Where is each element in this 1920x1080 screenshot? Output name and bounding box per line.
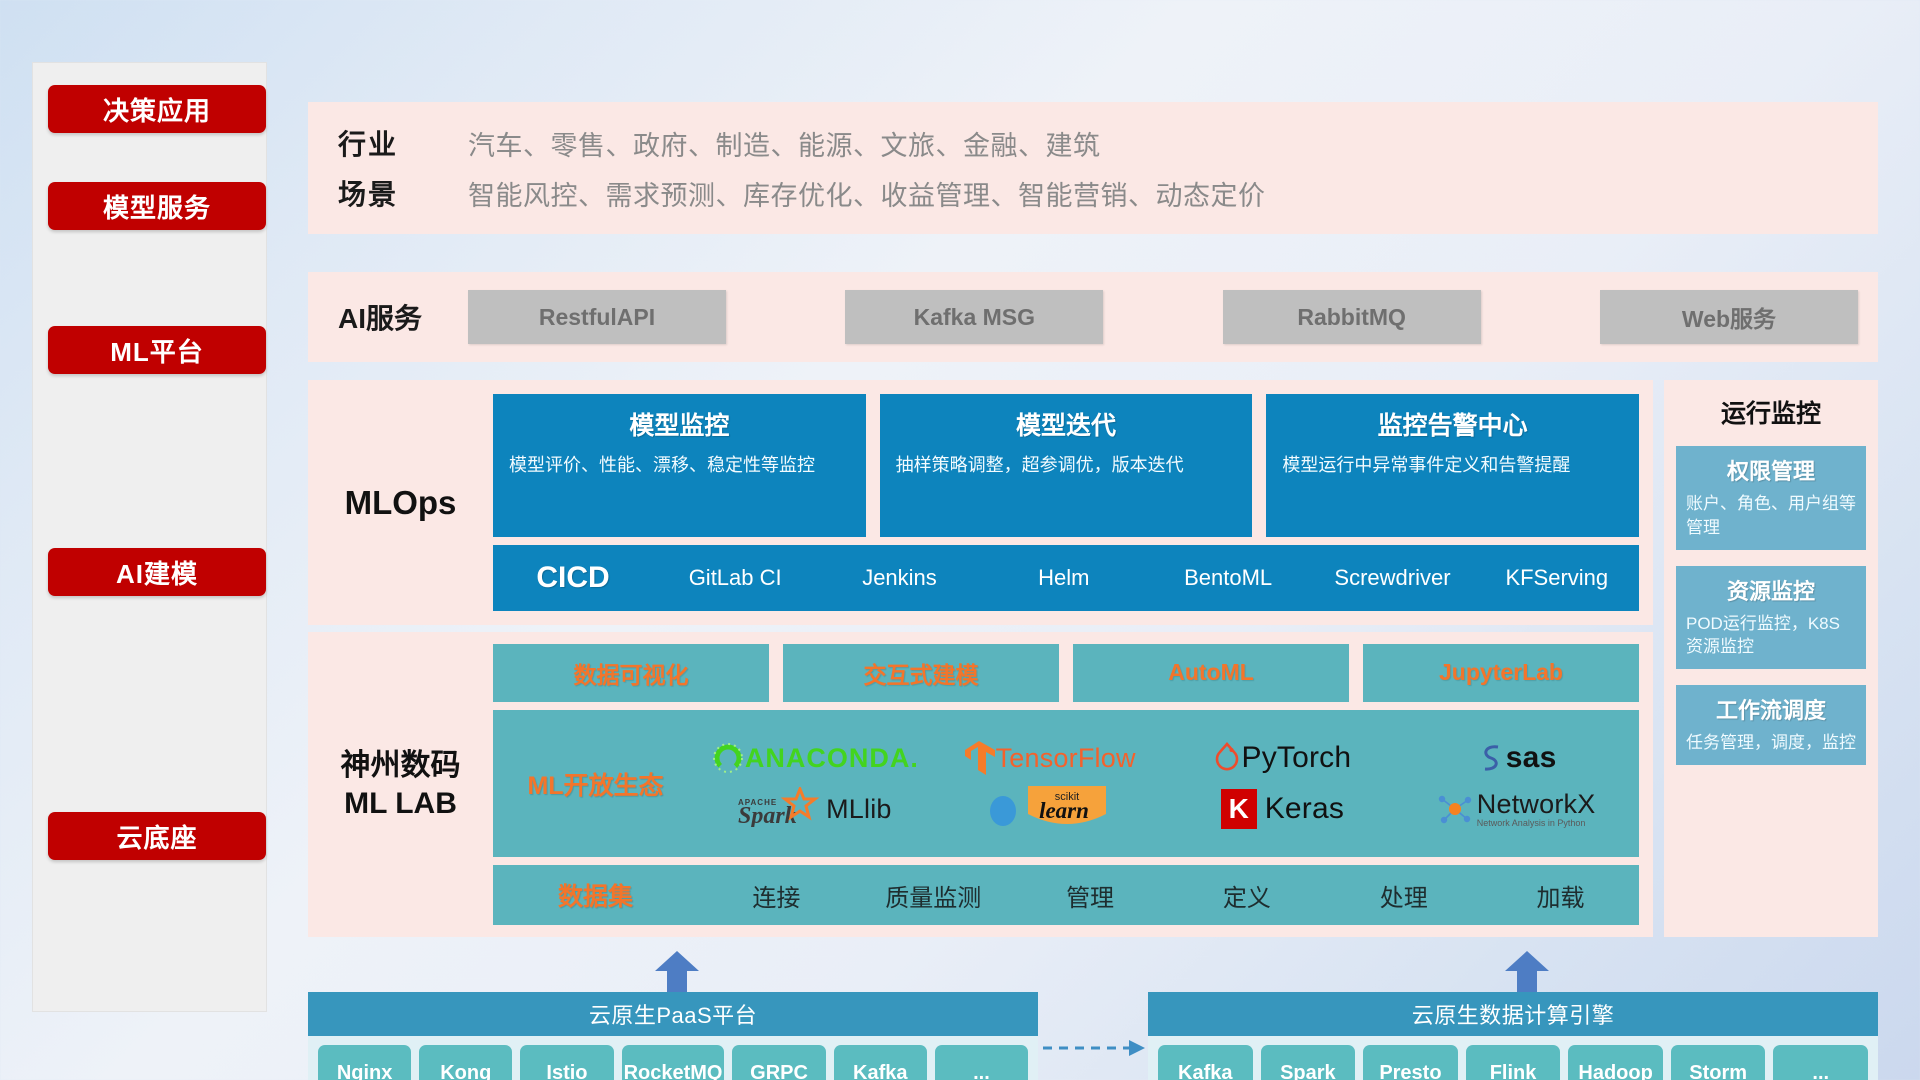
cloud-native-paas-group: 云原生PaaS平台 Nginx Kong Istio RocketMQ GRPC…: [308, 992, 1038, 1080]
networkx-logo: NetworkX Network Analysis in Python: [1437, 791, 1596, 828]
dataset-item-define[interactable]: 定义: [1168, 878, 1325, 913]
paas-chip-nginx[interactable]: Nginx: [318, 1045, 411, 1080]
anaconda-icon: [711, 741, 745, 775]
card-title: 工作流调度: [1686, 693, 1856, 725]
pytorch-icon: [1213, 741, 1241, 775]
industry-values: 汽车、零售、政府、制造、能源、文旅、金融、建筑: [468, 124, 1101, 163]
mlops-card-alert-center[interactable]: 监控告警中心 模型运行中异常事件定义和告警提醒: [1266, 394, 1639, 537]
cicd-label: CICD: [493, 561, 653, 595]
ai-service-chip-web-service[interactable]: Web服务: [1600, 290, 1858, 344]
paas-chip-list: Nginx Kong Istio RocketMQ GRPC Kafka ...: [308, 1036, 1038, 1080]
compute-chip-kafka[interactable]: Kafka: [1158, 1045, 1253, 1080]
cicd-item-helm[interactable]: Helm: [982, 566, 1146, 591]
paas-chip-istio[interactable]: Istio: [520, 1045, 613, 1080]
mlops-band: MLOps 模型监控 模型评价、性能、漂移、稳定性等监控 模型迭代 抽样策略调整…: [308, 380, 1653, 625]
ai-service-label: AI服务: [308, 297, 468, 337]
svg-text:Spark: Spark: [738, 803, 797, 827]
lab-tool-jupyterlab[interactable]: JupyterLab: [1363, 644, 1639, 702]
networkx-wordmark: NetworkX: [1477, 791, 1596, 818]
mllib-wordmark: MLlib: [826, 794, 892, 825]
sas-logo: sas: [1476, 741, 1557, 775]
card-desc: 账户、角色、用户组等管理: [1686, 492, 1856, 540]
sidebar-item-ai-modeling[interactable]: AI建模: [48, 548, 266, 596]
arrow-up-icon: [1503, 949, 1551, 997]
pytorch-wordmark: PyTorch: [1241, 741, 1351, 775]
card-desc: POD运行监控，K8S资源监控: [1686, 612, 1856, 660]
paas-chip-kong[interactable]: Kong: [419, 1045, 512, 1080]
ai-service-chip-kafka-msg[interactable]: Kafka MSG: [845, 290, 1103, 344]
ml-lab-band: 神州数码 ML LAB 数据可视化 交互式建模 AutoML JupyterLa…: [308, 632, 1653, 937]
dataset-item-manage[interactable]: 管理: [1012, 878, 1169, 913]
ai-service-band: AI服务 RestfulAPI Kafka MSG RabbitMQ Web服务: [308, 272, 1878, 362]
sidebar-item-label: 云底座: [116, 818, 197, 855]
sidebar-item-ml-platform[interactable]: ML平台: [48, 326, 266, 374]
sidebar-item-model-service[interactable]: 模型服务: [48, 182, 266, 230]
networkx-tagline: Network Analysis in Python: [1477, 818, 1596, 828]
scenario-row: 场景 智能风控、需求预测、库存优化、收益管理、智能营销、动态定价: [338, 168, 1878, 218]
chip-label: RestfulAPI: [539, 304, 655, 331]
tensorflow-wordmark: TensorFlow: [996, 743, 1136, 774]
chip-label: Kafka MSG: [914, 304, 1035, 331]
dataset-bar: 数据集 连接 质量监测 管理 定义 处理 加载: [493, 865, 1639, 925]
card-desc: 模型运行中异常事件定义和告警提醒: [1282, 452, 1623, 478]
chip-label: RabbitMQ: [1297, 304, 1406, 331]
paas-chip-rocketmq[interactable]: RocketMQ: [622, 1045, 725, 1080]
cicd-item-gitlab-ci[interactable]: GitLab CI: [653, 566, 817, 591]
dataset-item-connect[interactable]: 连接: [698, 878, 855, 913]
mlops-card-model-iteration[interactable]: 模型迭代 抽样策略调整，超参调优，版本迭代: [880, 394, 1253, 537]
spark-mllib-logo: APACHE Spark MLlib: [738, 787, 892, 832]
svg-text:learn: learn: [1039, 798, 1089, 823]
arrow-up-icon: [653, 949, 701, 997]
cicd-item-screwdriver[interactable]: Screwdriver: [1310, 566, 1474, 591]
anaconda-wordmark: ANACONDA.: [745, 743, 919, 774]
ml-open-ecosystem-label: ML开放生态: [493, 766, 698, 802]
sidebar-item-label: AI建模: [116, 554, 198, 591]
scenario-values: 智能风控、需求预测、库存优化、收益管理、智能营销、动态定价: [468, 174, 1266, 213]
dataset-label: 数据集: [493, 877, 698, 913]
compute-chip-flink[interactable]: Flink: [1466, 1045, 1561, 1080]
tensorflow-logo: TensorFlow: [962, 739, 1136, 777]
networkx-wordmark-group: NetworkX Network Analysis in Python: [1477, 791, 1596, 828]
monitor-card-permission[interactable]: 权限管理 账户、角色、用户组等管理: [1676, 446, 1866, 550]
cloud-native-paas-title: 云原生PaaS平台: [308, 992, 1038, 1036]
mlops-card-model-monitoring[interactable]: 模型监控 模型评价、性能、漂移、稳定性等监控: [493, 394, 866, 537]
sidebar-item-label: 决策应用: [103, 91, 211, 128]
compute-chip-more[interactable]: ...: [1773, 1045, 1868, 1080]
paas-chip-grpc[interactable]: GRPC: [732, 1045, 825, 1080]
ml-lab-label-line1: 神州数码: [341, 747, 461, 785]
keras-icon: K: [1221, 789, 1257, 829]
card-desc: 模型评价、性能、漂移、稳定性等监控: [509, 452, 850, 478]
sas-wordmark: sas: [1506, 741, 1557, 775]
runtime-monitor-title: 运行监控: [1676, 394, 1866, 430]
scikit-learn-badge: scikit learn: [1024, 784, 1110, 835]
networkx-icon: [1437, 791, 1473, 827]
arrow-right-dashed-icon: [1041, 1037, 1147, 1059]
sidebar-item-decision-app[interactable]: 决策应用: [48, 85, 266, 133]
ai-service-chip-restfulapi[interactable]: RestfulAPI: [468, 290, 726, 344]
sidebar-item-cloud-base[interactable]: 云底座: [48, 812, 266, 860]
sidebar-item-label: 模型服务: [103, 188, 211, 225]
runtime-monitor-panel: 运行监控 权限管理 账户、角色、用户组等管理 资源监控 POD运行监控，K8S资…: [1664, 380, 1878, 937]
ai-service-chip-list: RestfulAPI Kafka MSG RabbitMQ Web服务: [468, 290, 1878, 344]
tensorflow-icon: [962, 739, 996, 777]
chip-label: Web服务: [1682, 300, 1776, 334]
paas-chip-more[interactable]: ...: [935, 1045, 1028, 1080]
compute-chip-presto[interactable]: Presto: [1363, 1045, 1458, 1080]
ml-lab-label: 神州数码 ML LAB: [308, 632, 493, 937]
card-title: 资源监控: [1686, 574, 1856, 606]
compute-chip-spark[interactable]: Spark: [1261, 1045, 1356, 1080]
scikit-learn-logo: scikit learn: [988, 784, 1110, 835]
lab-tool-data-visualization[interactable]: 数据可视化: [493, 644, 769, 702]
compute-chip-hadoop[interactable]: Hadoop: [1568, 1045, 1663, 1080]
monitor-card-workflow[interactable]: 工作流调度 任务管理，调度，监控: [1676, 685, 1866, 765]
cicd-item-bentoml[interactable]: BentoML: [1146, 566, 1310, 591]
compute-chip-list: Kafka Spark Presto Flink Hadoop Storm ..…: [1148, 1036, 1878, 1080]
spark-icon: APACHE Spark: [738, 787, 820, 832]
scenario-label: 场景: [338, 173, 468, 213]
dataset-item-process[interactable]: 处理: [1325, 878, 1482, 913]
cicd-bar: CICD GitLab CI Jenkins Helm BentoML Scre…: [493, 545, 1639, 611]
ml-open-ecosystem: ML开放生态 ANACONDA.: [493, 710, 1639, 857]
compute-chip-storm[interactable]: Storm: [1671, 1045, 1766, 1080]
cicd-item-kfserving[interactable]: KFServing: [1475, 566, 1639, 591]
paas-to-compute-arrow: [1041, 1037, 1147, 1064]
card-title: 模型监控: [509, 406, 850, 442]
cloud-native-compute-title: 云原生数据计算引擎: [1148, 992, 1878, 1036]
dataset-item-load[interactable]: 加载: [1482, 878, 1639, 913]
industry-label: 行业: [338, 123, 468, 163]
card-title: 权限管理: [1686, 454, 1856, 486]
paas-chip-kafka[interactable]: Kafka: [834, 1045, 927, 1080]
monitor-card-resource[interactable]: 资源监控 POD运行监控，K8S资源监控: [1676, 566, 1866, 670]
lab-tool-interactive-modeling[interactable]: 交互式建模: [783, 644, 1059, 702]
card-desc: 抽样策略调整，超参调优，版本迭代: [896, 452, 1237, 478]
card-desc: 任务管理，调度，监控: [1686, 731, 1856, 755]
industry-row: 行业 汽车、零售、政府、制造、能源、文旅、金融、建筑: [338, 118, 1878, 168]
lab-tool-automl[interactable]: AutoML: [1073, 644, 1349, 702]
ml-lab-label-line2: ML LAB: [344, 785, 457, 823]
cicd-item-jenkins[interactable]: Jenkins: [817, 566, 981, 591]
ai-service-chip-rabbitmq[interactable]: RabbitMQ: [1223, 290, 1481, 344]
pytorch-logo: PyTorch: [1213, 741, 1351, 775]
anaconda-logo: ANACONDA.: [711, 741, 919, 775]
decision-application-band: 行业 汽车、零售、政府、制造、能源、文旅、金融、建筑 场景 智能风控、需求预测、…: [308, 102, 1878, 234]
keras-wordmark: Keras: [1265, 792, 1344, 826]
sidebar-item-label: ML平台: [110, 332, 204, 369]
card-title: 模型迭代: [896, 406, 1237, 442]
dataset-item-quality-monitor[interactable]: 质量监测: [855, 878, 1012, 913]
cloud-native-compute-group: 云原生数据计算引擎 Kafka Spark Presto Flink Hadoo…: [1148, 992, 1878, 1080]
mlops-label: MLOps: [308, 380, 493, 625]
sas-icon: [1476, 741, 1506, 775]
card-title: 监控告警中心: [1282, 406, 1623, 442]
keras-logo: K Keras: [1221, 789, 1344, 829]
